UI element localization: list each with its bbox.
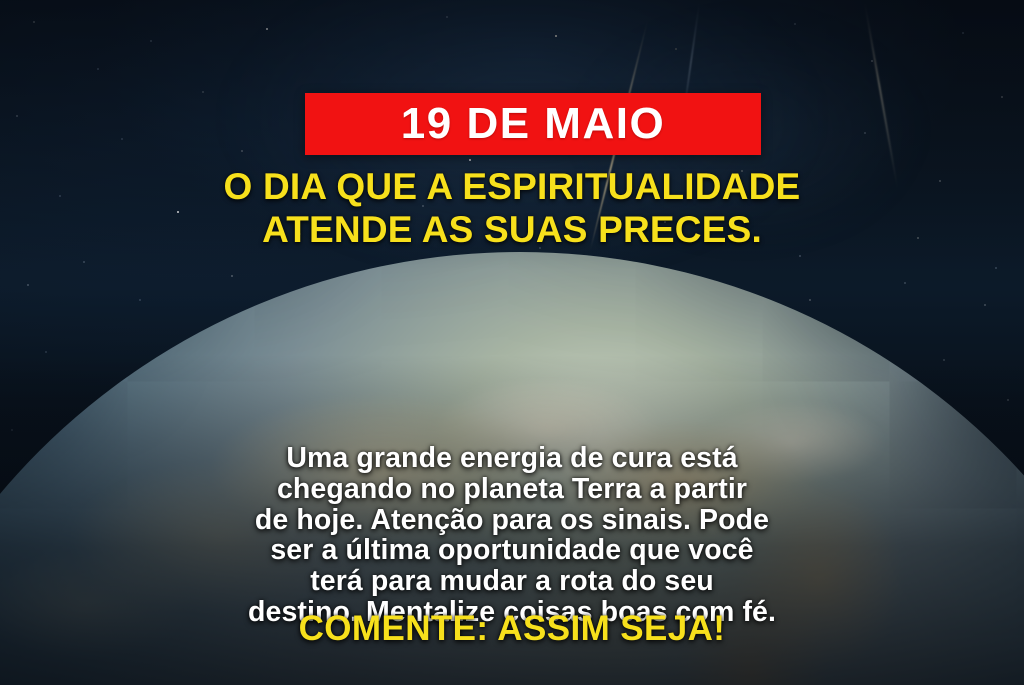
call-to-action: COMENTE: ASSIM SEJA! xyxy=(0,611,1024,646)
headline-line-1: O DIA QUE A ESPIRITUALIDADE xyxy=(44,166,980,209)
body-line-4: ser a última oportunidade que você xyxy=(58,535,966,566)
headline: O DIA QUE A ESPIRITUALIDADE ATENDE AS SU… xyxy=(0,166,1024,252)
body-copy: Uma grande energia de cura está chegando… xyxy=(58,443,966,628)
body-line-3: de hoje. Atenção para os sinais. Pode xyxy=(58,505,966,536)
headline-line-2: ATENDE AS SUAS PRECES. xyxy=(44,209,980,252)
poster-content: 19 DE MAIO O DIA QUE A ESPIRITUALIDADE A… xyxy=(0,0,1024,685)
date-banner: 19 DE MAIO xyxy=(305,93,761,155)
poster-canvas: 19 DE MAIO O DIA QUE A ESPIRITUALIDADE A… xyxy=(0,0,1024,685)
date-banner-text: 19 DE MAIO xyxy=(401,102,665,146)
body-line-5: terá para mudar a rota do seu xyxy=(58,566,966,597)
body-line-2: chegando no planeta Terra a partir xyxy=(58,474,966,505)
call-to-action-text: COMENTE: ASSIM SEJA! xyxy=(299,609,726,648)
body-line-1: Uma grande energia de cura está xyxy=(58,443,966,474)
